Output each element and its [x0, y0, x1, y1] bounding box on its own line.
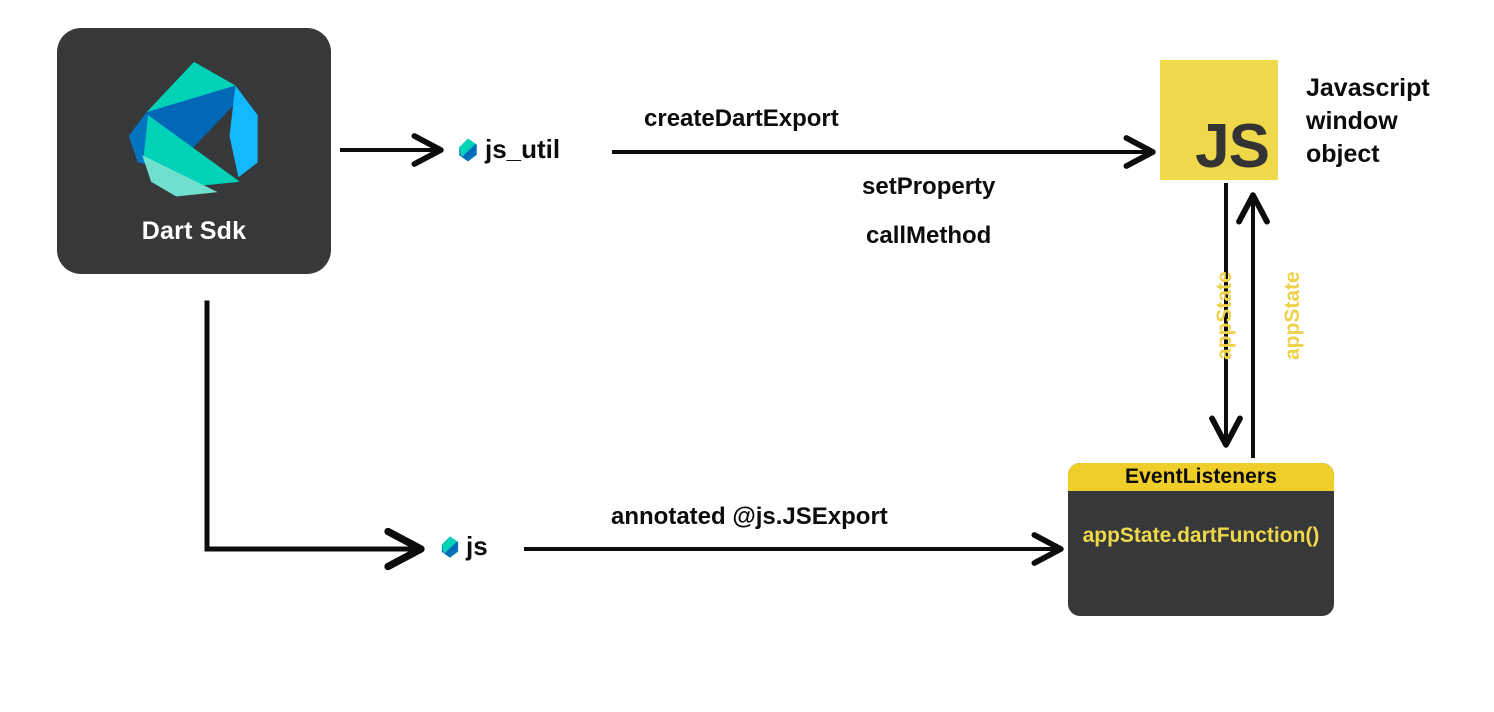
dart-package-icon	[454, 136, 482, 164]
js-window-object-badge: JS	[1160, 60, 1278, 180]
edge-label-annotated-jsexport: annotated @js.JSExport	[611, 503, 888, 531]
js-node: js	[437, 531, 488, 562]
edge-label-appstate-down: appState	[1213, 271, 1237, 360]
edge-label-create-dart-export: createDartExport	[644, 105, 839, 133]
event-listeners-header: EventListeners	[1068, 463, 1334, 491]
edge-label-appstate-up: appState	[1281, 271, 1305, 360]
edge-sdk-to-js	[207, 303, 420, 549]
edge-label-set-property: setProperty	[862, 173, 995, 201]
js-window-object-label-line3: object	[1306, 138, 1486, 171]
dart-package-icon	[437, 534, 463, 560]
event-listeners-node: EventListeners appState.dartFunction()	[1068, 463, 1334, 616]
js-window-object-label: Javascript window object	[1306, 72, 1486, 171]
diagram-canvas: Dart Sdk js_util js JS Javascript window…	[0, 0, 1494, 712]
js-window-object-label-line2: window	[1306, 105, 1486, 138]
event-listeners-body-text: appState.dartFunction()	[1068, 524, 1334, 548]
edge-label-call-method: callMethod	[866, 222, 991, 250]
dart-logo-icon	[120, 50, 268, 198]
dart-sdk-label: Dart Sdk	[57, 217, 331, 246]
dart-sdk-node: Dart Sdk	[57, 28, 331, 274]
js-util-label: js_util	[485, 134, 560, 165]
js-badge-text: JS	[1195, 116, 1269, 178]
js-util-node: js_util	[454, 134, 560, 165]
js-window-object-label-line1: Javascript	[1306, 72, 1486, 105]
js-label: js	[466, 531, 488, 562]
